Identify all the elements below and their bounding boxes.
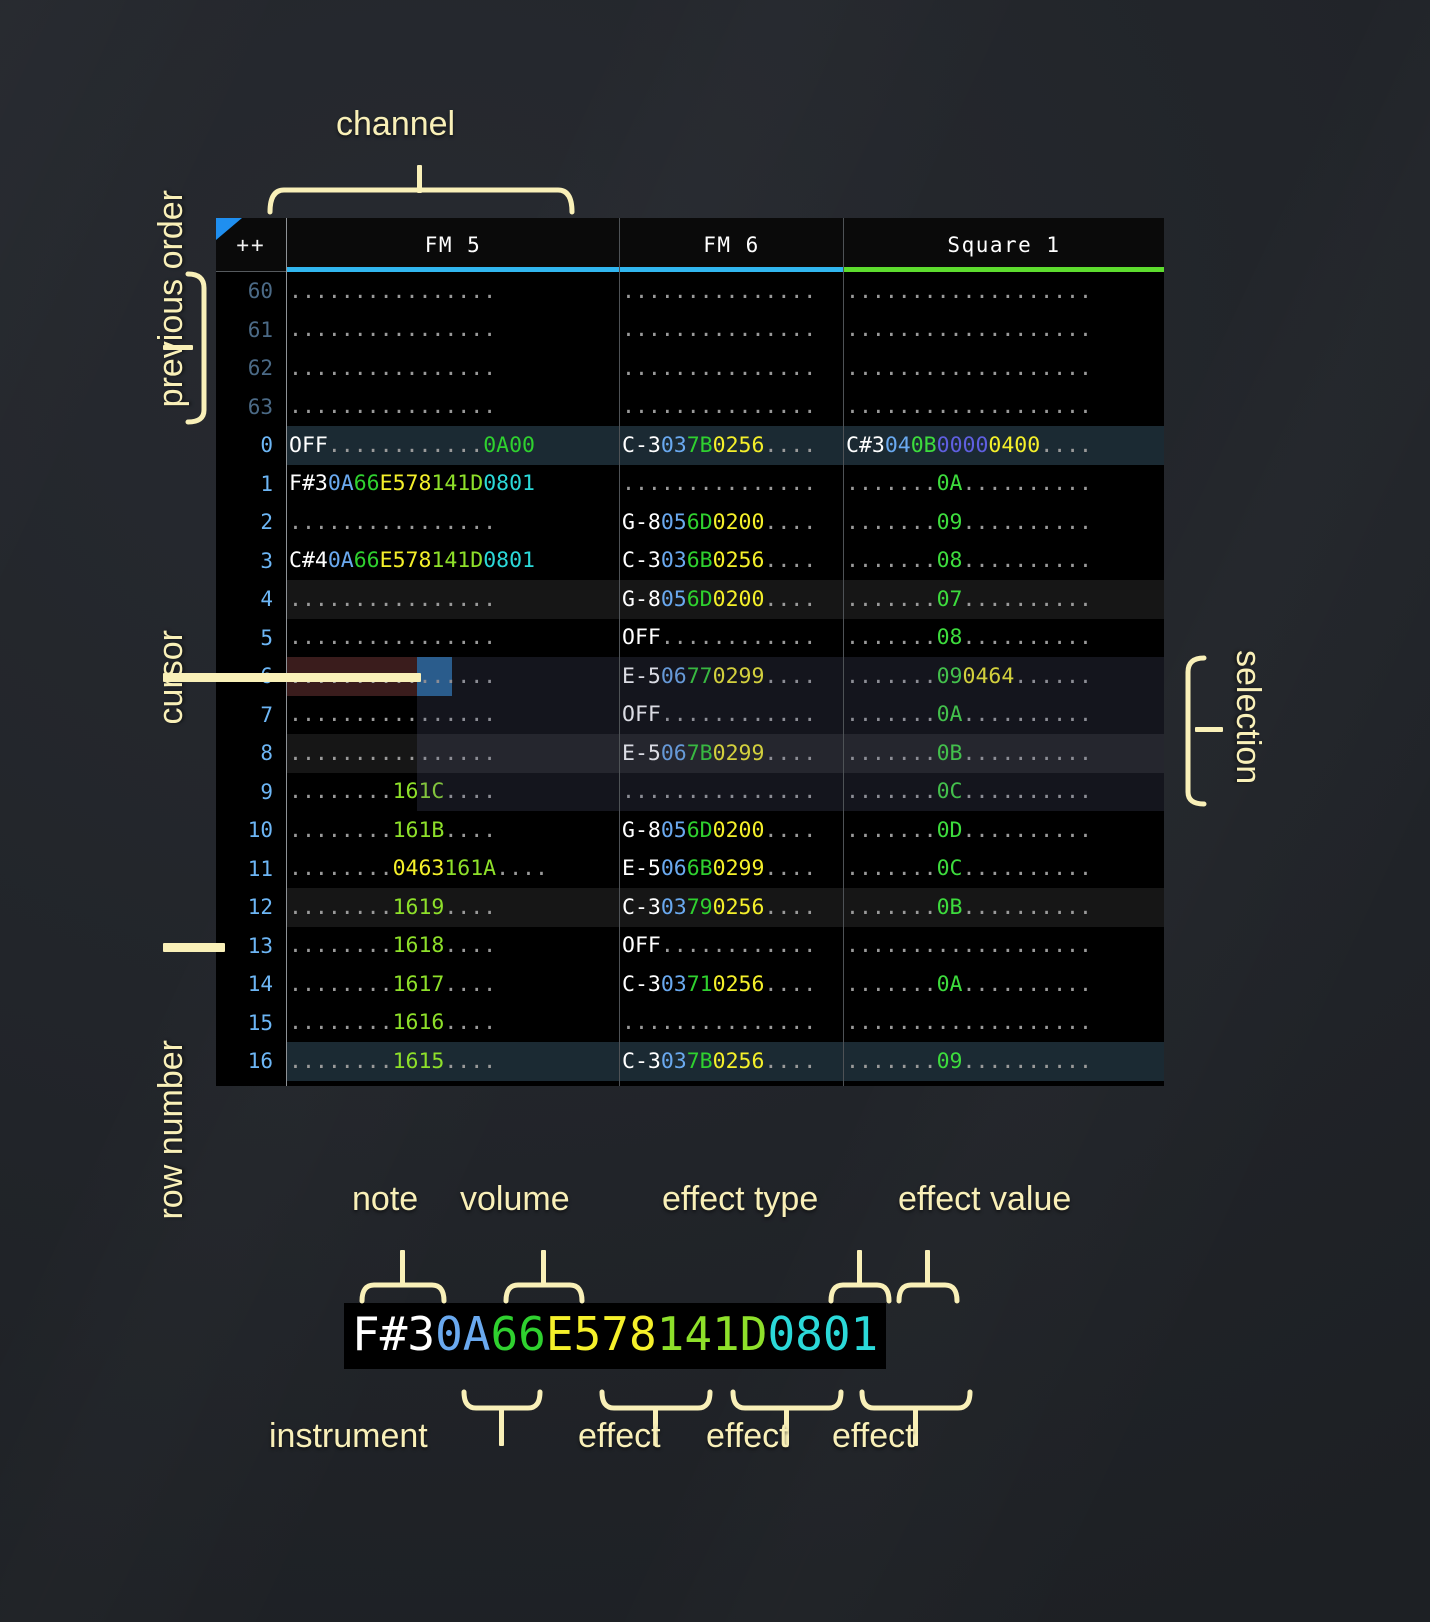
annotation-effect-1: effect (578, 1417, 661, 1456)
cell-segment-dots: ................ (289, 317, 496, 342)
annotation-channel: channel (336, 105, 455, 144)
pattern-cell[interactable]: .......0A.......... (846, 465, 1164, 504)
cell-segment-note: E-5 (622, 856, 661, 881)
cell-segment-dots: ....... (846, 471, 937, 496)
cell-segment-dots: ....... (846, 972, 937, 997)
channel-header-3[interactable]: Square 1 (844, 218, 1164, 272)
cell-segment-dots: ........ (289, 1010, 393, 1035)
cell-segment-effect_type_a: E578 (380, 548, 432, 573)
cell-segment-dots: ........ (289, 818, 393, 843)
cell-segment-effect_type_a: 0256 (713, 1049, 765, 1074)
cell-segment-dots: .... (444, 895, 496, 920)
pattern-cell[interactable]: .......0B.......... (846, 888, 1164, 927)
annotation-selection-brace (1180, 656, 1206, 806)
pattern-cell[interactable]: OFF............ (622, 927, 845, 966)
annotation-instrument: instrument (269, 1417, 428, 1456)
cell-segment-effect_bright_green: 0B (937, 895, 963, 920)
cell-segment-effect_bright_green: 0C (937, 856, 963, 881)
pattern-cell[interactable]: ............... (622, 272, 845, 311)
pattern-cell[interactable]: ........0463161A.... (289, 850, 621, 889)
cell-segment-note: OFF (622, 933, 661, 958)
row-number-cell: 0 (216, 426, 280, 465)
annotation-row-number-pointer (163, 943, 225, 952)
row-number-cell: 8 (216, 734, 280, 773)
cell-segment-effect_type_b: 1618 (393, 933, 445, 958)
cell-segment-effect_type_b: 161B (393, 818, 445, 843)
cell-segment-dots: .... (496, 856, 548, 881)
cell-segment-volume: 79 (687, 895, 713, 920)
cell-segment-effect_type_a: 0256 (713, 548, 765, 573)
cell-segment-effect_bright_green: 0A (937, 972, 963, 997)
cell-segment-note: F#3 (289, 471, 328, 496)
pattern-row[interactable]: 13........1618....OFF...................… (216, 927, 1164, 966)
cell-segment-dots: ........ (289, 933, 393, 958)
cell-segment-note: C-3 (622, 972, 661, 997)
cell-segment-instrument: 0A (328, 471, 354, 496)
pattern-row[interactable]: 1F#30A66E578141D0801....................… (216, 465, 1164, 504)
cell-segment-dots: ............... (622, 394, 816, 419)
cell-segment-dots: ................... (846, 279, 1092, 304)
cell-segment-note: OFF (622, 625, 661, 650)
pattern-cell[interactable]: G-8056D0200.... (622, 503, 845, 542)
cell-segment-dots: ............ (661, 933, 816, 958)
cell-format-legend: F#30A66E578141D0801 (344, 1303, 886, 1369)
cell-segment-volume: 6D (687, 818, 713, 843)
pattern-cell[interactable]: ........1616.... (289, 1004, 621, 1043)
cell-segment-instrument: 0A (328, 548, 354, 573)
cell-segment-dots: ............... (622, 1010, 816, 1035)
cell-segment-dots: .... (1040, 433, 1092, 458)
cell-segment-instrument: 03 (661, 972, 687, 997)
pattern-row[interactable]: 11........0463161A....E-5066B0299.......… (216, 850, 1164, 889)
cell-segment-instrument: 03 (661, 895, 687, 920)
row-number-cell: 3 (216, 542, 280, 581)
cell-segment-dots: .... (764, 510, 816, 535)
pattern-cell[interactable]: ............... (622, 465, 845, 504)
pattern-cell[interactable]: ........161B.... (289, 811, 621, 850)
annotation-effect-type: effect type (662, 1180, 818, 1219)
cell-segment-instrument: 05 (661, 818, 687, 843)
pattern-cell[interactable]: ........1618.... (289, 927, 621, 966)
cell-segment-effect_type_b: 1617 (393, 972, 445, 997)
cell-segment-volume: 6B (687, 548, 713, 573)
pattern-cell[interactable]: .......0A.......... (846, 965, 1164, 1004)
pattern-cell[interactable]: ................... (846, 311, 1164, 350)
pattern-row[interactable]: 63......................................… (216, 388, 1164, 427)
pattern-cell[interactable]: F#30A66E578141D0801 (289, 465, 621, 504)
pattern-row[interactable]: 5................OFF...................0… (216, 619, 1164, 658)
cell-segment-volume: 66 (354, 548, 380, 573)
cell-segment-dots: ................... (846, 317, 1092, 342)
row-number-cell: 16 (216, 1042, 280, 1081)
cell-segment-volume: 71 (687, 972, 713, 997)
legend-segment-effect_type_a: E578 (546, 1307, 657, 1361)
cell-segment-dots: ........ (289, 1049, 393, 1074)
pattern-row[interactable]: 60......................................… (216, 272, 1164, 311)
annotation-instrument-stem (499, 1408, 504, 1446)
pattern-cell[interactable]: ............... (622, 1004, 845, 1043)
row-number-cell: 10 (216, 811, 280, 850)
row-number-cell: 13 (216, 927, 280, 966)
pattern-cell[interactable]: ................ (289, 349, 621, 388)
column-separator-fm5 (619, 218, 620, 1086)
row-number-cell: 2 (216, 503, 280, 542)
cell-segment-dots: .... (764, 972, 816, 997)
pattern-row[interactable]: 62......................................… (216, 349, 1164, 388)
cell-segment-dots: ....... (846, 510, 937, 535)
cell-segment-dots: ....... (846, 856, 937, 881)
cell-segment-dots: ................ (289, 394, 496, 419)
cell-segment-effect_type_b: 141D (431, 548, 483, 573)
annotation-row-number: row number (152, 1040, 191, 1220)
cell-segment-volume: 6B (687, 856, 713, 881)
cell-segment-dots: ............... (622, 279, 816, 304)
cell-segment-dots: ....... (846, 548, 937, 573)
pattern-cell[interactable]: ................... (846, 349, 1164, 388)
cell-segment-effect_bright_green: 09 (937, 1049, 963, 1074)
cell-segment-volume: 0A00 (483, 433, 535, 458)
cell-segment-effect_type_a: 0256 (713, 895, 765, 920)
cell-segment-effect_type_a: 0200 (713, 818, 765, 843)
cell-segment-dots: ................ (289, 356, 496, 381)
pattern-cell[interactable]: .......0C.......... (846, 850, 1164, 889)
annotation-selection: selection (1228, 650, 1267, 784)
pattern-cell[interactable]: ........1615.... (289, 1042, 621, 1081)
cell-segment-dots: ................ (289, 625, 496, 650)
pattern-row[interactable]: 4................G-8056D0200...........0… (216, 580, 1164, 619)
cell-segment-dots: ....... (846, 895, 937, 920)
cell-segment-dots: ........ (289, 895, 393, 920)
selection-overlay[interactable] (417, 657, 1164, 811)
cell-segment-volume: 6D (687, 510, 713, 535)
annotation-effect-value: effect value (898, 1180, 1071, 1219)
cell-segment-effect_bright_green: 0D (937, 818, 963, 843)
pattern-cell[interactable]: ................ (289, 311, 621, 350)
cell-segment-dots: ....... (846, 1049, 937, 1074)
pattern-cell[interactable]: ................ (289, 388, 621, 427)
cell-segment-dots: ................... (846, 1010, 1092, 1035)
pattern-cell[interactable]: ................... (846, 1004, 1164, 1043)
annotation-volume: volume (460, 1180, 570, 1219)
legend-segment-volume: 66 (490, 1307, 545, 1361)
cell-segment-instrument: 05 (661, 587, 687, 612)
pattern-row[interactable]: 15........1616..........................… (216, 1004, 1164, 1043)
pattern-cell[interactable]: ............... (622, 349, 845, 388)
cell-segment-volume: 7B (687, 433, 713, 458)
cell-segment-effect_type_a: E578 (380, 471, 432, 496)
cell-segment-dots: ............... (622, 317, 816, 342)
pattern-cell[interactable]: C-3037B0256.... (622, 426, 845, 465)
annotation-volume-stem (541, 1250, 546, 1284)
channel-header-2[interactable]: FM 6 (620, 218, 843, 272)
cell-segment-dots: ........ (289, 856, 393, 881)
cell-segment-note: G-8 (622, 510, 661, 535)
cell-segment-dots: .... (764, 433, 816, 458)
cell-segment-dots: ................... (846, 356, 1092, 381)
pattern-cell[interactable]: .......0D.......... (846, 811, 1164, 850)
pattern-cell[interactable]: ................ (289, 503, 621, 542)
pattern-cell[interactable]: ................... (846, 272, 1164, 311)
cell-segment-effect_type_a: 0299 (713, 856, 765, 881)
cell-segment-effect_bright_green: 09 (937, 510, 963, 535)
pattern-cell[interactable]: G-8056D0200.... (622, 811, 845, 850)
cell-segment-dots: .... (764, 548, 816, 573)
cell-segment-effect_bright_green: 0A (937, 471, 963, 496)
cell-segment-dots: .... (444, 1049, 496, 1074)
cell-segment-dots: ............ (328, 433, 483, 458)
cell-segment-dots: ....... (846, 625, 937, 650)
annotation-effect-3: effect (832, 1417, 915, 1456)
pattern-cell[interactable]: ........1617.... (289, 965, 621, 1004)
pattern-row[interactable]: 16........1615....C-3037B0256...........… (216, 1042, 1164, 1081)
pattern-cell[interactable]: .......08.......... (846, 619, 1164, 658)
cell-segment-effect_type_a: 0200 (713, 510, 765, 535)
cell-segment-dots: .......... (963, 895, 1092, 920)
cell-segment-volume: 7B (687, 1049, 713, 1074)
cell-segment-dots: .......... (963, 587, 1092, 612)
pattern-cell[interactable]: ................... (846, 927, 1164, 966)
cell-segment-dots: .... (444, 972, 496, 997)
cell-segment-instrument: 04 (885, 433, 911, 458)
pattern-cell[interactable]: OFF............ (622, 619, 845, 658)
cell-segment-dots: .... (764, 587, 816, 612)
legend-segment-note: F#3 (352, 1307, 435, 1361)
pattern-cell[interactable]: C#40A66E578141D0801 (289, 542, 621, 581)
pattern-row[interactable]: 10........161B....G-8056D0200...........… (216, 811, 1164, 850)
cell-segment-dots: ........ (289, 779, 393, 804)
cell-segment-volume: 6D (687, 587, 713, 612)
legend-segment-effect_type_b: 141D (657, 1307, 768, 1361)
annotation-effect-value-stem (925, 1250, 930, 1284)
row-number-cell: 15 (216, 1004, 280, 1043)
pattern-cell[interactable]: ................... (846, 388, 1164, 427)
cell-segment-effect_type_b: 161A (444, 856, 496, 881)
cell-segment-dots: .......... (963, 510, 1092, 535)
cell-segment-effect_type_a: 0463 (393, 856, 445, 881)
row-number-cell: 4 (216, 580, 280, 619)
row-number-cell: 7 (216, 696, 280, 735)
pattern-cell[interactable]: .......09.......... (846, 503, 1164, 542)
row-number-cell: 9 (216, 773, 280, 812)
cell-segment-effect_bright_green: 0B (911, 433, 937, 458)
annotation-volume-brace (504, 1281, 584, 1303)
cell-segment-instrument: 05 (661, 510, 687, 535)
pattern-cell[interactable]: ................ (289, 580, 621, 619)
cell-segment-dots: .... (764, 895, 816, 920)
pattern-row[interactable]: 3C#40A66E578141D0801C-3036B0256.........… (216, 542, 1164, 581)
row-number-cell: 1 (216, 465, 280, 504)
pattern-cell[interactable]: .......09.......... (846, 1042, 1164, 1081)
column-separator-rownum (286, 218, 287, 1086)
cell-segment-effect_bright_green: 07 (937, 587, 963, 612)
pattern-cell[interactable]: ................ (289, 272, 621, 311)
pattern-cell[interactable]: .......07.......... (846, 580, 1164, 619)
cell-segment-dots: .......... (963, 856, 1092, 881)
annotation-effect-type-brace (829, 1281, 891, 1303)
pattern-row[interactable]: 12........1619....C-303790256...........… (216, 888, 1164, 927)
legend-segment-instrument: 0A (435, 1307, 490, 1361)
annotation-previous-order-brace (186, 272, 212, 424)
cell-segment-note: G-8 (622, 587, 661, 612)
cell-segment-effect_blue: 0000 (937, 433, 989, 458)
cell-segment-dots: .... (444, 1010, 496, 1035)
cell-segment-note: C#4 (289, 548, 328, 573)
cell-segment-dots: ................... (846, 394, 1092, 419)
cell-segment-effect_type_a: 0256 (713, 433, 765, 458)
row-number-cell: 62 (216, 349, 280, 388)
cell-segment-instrument: 03 (661, 1049, 687, 1074)
row-number-cell: 61 (216, 311, 280, 350)
row-number-cell: 5 (216, 619, 280, 658)
cell-segment-instrument: 03 (661, 433, 687, 458)
annotation-cursor-pointer (163, 673, 421, 682)
pattern-row[interactable]: 0OFF............0A00C-3037B0256....C#304… (216, 426, 1164, 465)
annotation-effect-value-brace (897, 1281, 959, 1303)
row-number-header[interactable]: ++ (216, 218, 286, 272)
pattern-cell[interactable]: C-303710256.... (622, 965, 845, 1004)
cell-segment-effect_type_b: 1615 (393, 1049, 445, 1074)
cell-segment-dots: ............... (622, 356, 816, 381)
pattern-cell[interactable]: E-5066B0299.... (622, 850, 845, 889)
cell-segment-effect_type_a: 0200 (713, 587, 765, 612)
annotation-note-brace (360, 1281, 446, 1303)
column-separator-fm6 (843, 218, 844, 1086)
pattern-cell[interactable]: C-303790256.... (622, 888, 845, 927)
legend-segment-effect_type_c: 0801 (767, 1307, 878, 1361)
cell-segment-dots: ........ (289, 972, 393, 997)
cell-segment-dots: ................ (289, 279, 496, 304)
cell-segment-instrument: 06 (661, 856, 687, 881)
pattern-cell[interactable]: C#3040B00000400.... (846, 426, 1164, 465)
row-number-cell: 14 (216, 965, 280, 1004)
pattern-cell[interactable]: ................ (289, 619, 621, 658)
cell-segment-effect_type_a: 0400 (988, 433, 1040, 458)
cell-segment-note: C-3 (622, 1049, 661, 1074)
cell-segment-note: C#3 (846, 433, 885, 458)
cell-segment-effect_bright_green: 08 (937, 548, 963, 573)
cell-segment-effect_type_c: 0801 (483, 471, 535, 496)
channel-header-1[interactable]: FM 5 (287, 218, 619, 272)
cell-segment-dots: .......... (963, 625, 1092, 650)
cell-segment-volume: 66 (354, 471, 380, 496)
pattern-cell[interactable]: OFF............0A00 (289, 426, 621, 465)
pattern-row[interactable]: 2................G-8056D0200...........0… (216, 503, 1164, 542)
cell-segment-dots: ....... (846, 587, 937, 612)
cell-segment-dots: ................ (289, 510, 496, 535)
cell-segment-dots: .......... (963, 972, 1092, 997)
cell-segment-dots: .... (764, 818, 816, 843)
cell-segment-dots: .... (764, 1049, 816, 1074)
cell-segment-effect_type_c: 0801 (483, 548, 535, 573)
cell-segment-note: C-3 (622, 548, 661, 573)
annotation-effect-2: effect (706, 1417, 789, 1456)
row-number-cell: 12 (216, 888, 280, 927)
cell-segment-note: C-3 (622, 895, 661, 920)
cell-segment-dots: .......... (963, 548, 1092, 573)
row-number-cell: 60 (216, 272, 280, 311)
annotation-channel-brace (268, 186, 574, 214)
pattern-cell[interactable]: ............... (622, 388, 845, 427)
cell-segment-dots: ................ (289, 587, 496, 612)
cell-segment-effect_type_b: 1616 (393, 1010, 445, 1035)
row-number-cell: 63 (216, 388, 280, 427)
cell-segment-effect_type_b: 141D (431, 471, 483, 496)
cell-segment-dots: .......... (963, 471, 1092, 496)
pattern-cell[interactable]: C-3036B0256.... (622, 542, 845, 581)
cell-segment-instrument: 03 (661, 548, 687, 573)
cell-segment-dots: ............ (661, 625, 816, 650)
cell-segment-dots: .... (444, 818, 496, 843)
cell-segment-dots: ....... (846, 818, 937, 843)
cell-segment-effect_bright_green: 08 (937, 625, 963, 650)
pattern-row[interactable]: 14........1617....C-303710256...........… (216, 965, 1164, 1004)
annotation-note: note (352, 1180, 418, 1219)
pattern-editor-grid[interactable]: ++ FM 5FM 6Square 1 60..................… (216, 218, 1164, 1086)
cell-segment-note: OFF (289, 433, 328, 458)
pattern-cell[interactable]: .......08.......... (846, 542, 1164, 581)
cell-segment-effect_type_b: 1619 (393, 895, 445, 920)
cell-segment-effect_type_a: 0256 (713, 972, 765, 997)
pattern-row[interactable]: 61......................................… (216, 311, 1164, 350)
cell-segment-dots: .... (764, 856, 816, 881)
annotation-note-stem (400, 1250, 405, 1284)
pattern-cell[interactable]: ............... (622, 311, 845, 350)
pattern-cell[interactable]: ........1619.... (289, 888, 621, 927)
cell-segment-dots: .......... (963, 1049, 1092, 1074)
pattern-cell[interactable]: C-3037B0256.... (622, 1042, 845, 1081)
cell-segment-dots: .......... (963, 818, 1092, 843)
cell-segment-dots: .... (444, 933, 496, 958)
cell-segment-dots: ............... (622, 471, 816, 496)
cell-segment-dots: ................... (846, 933, 1092, 958)
row-number-cell: 11 (216, 850, 280, 889)
cell-segment-note: G-8 (622, 818, 661, 843)
cell-segment-note: C-3 (622, 433, 661, 458)
pattern-cell[interactable]: G-8056D0200.... (622, 580, 845, 619)
annotation-effect-type-stem (857, 1250, 862, 1284)
